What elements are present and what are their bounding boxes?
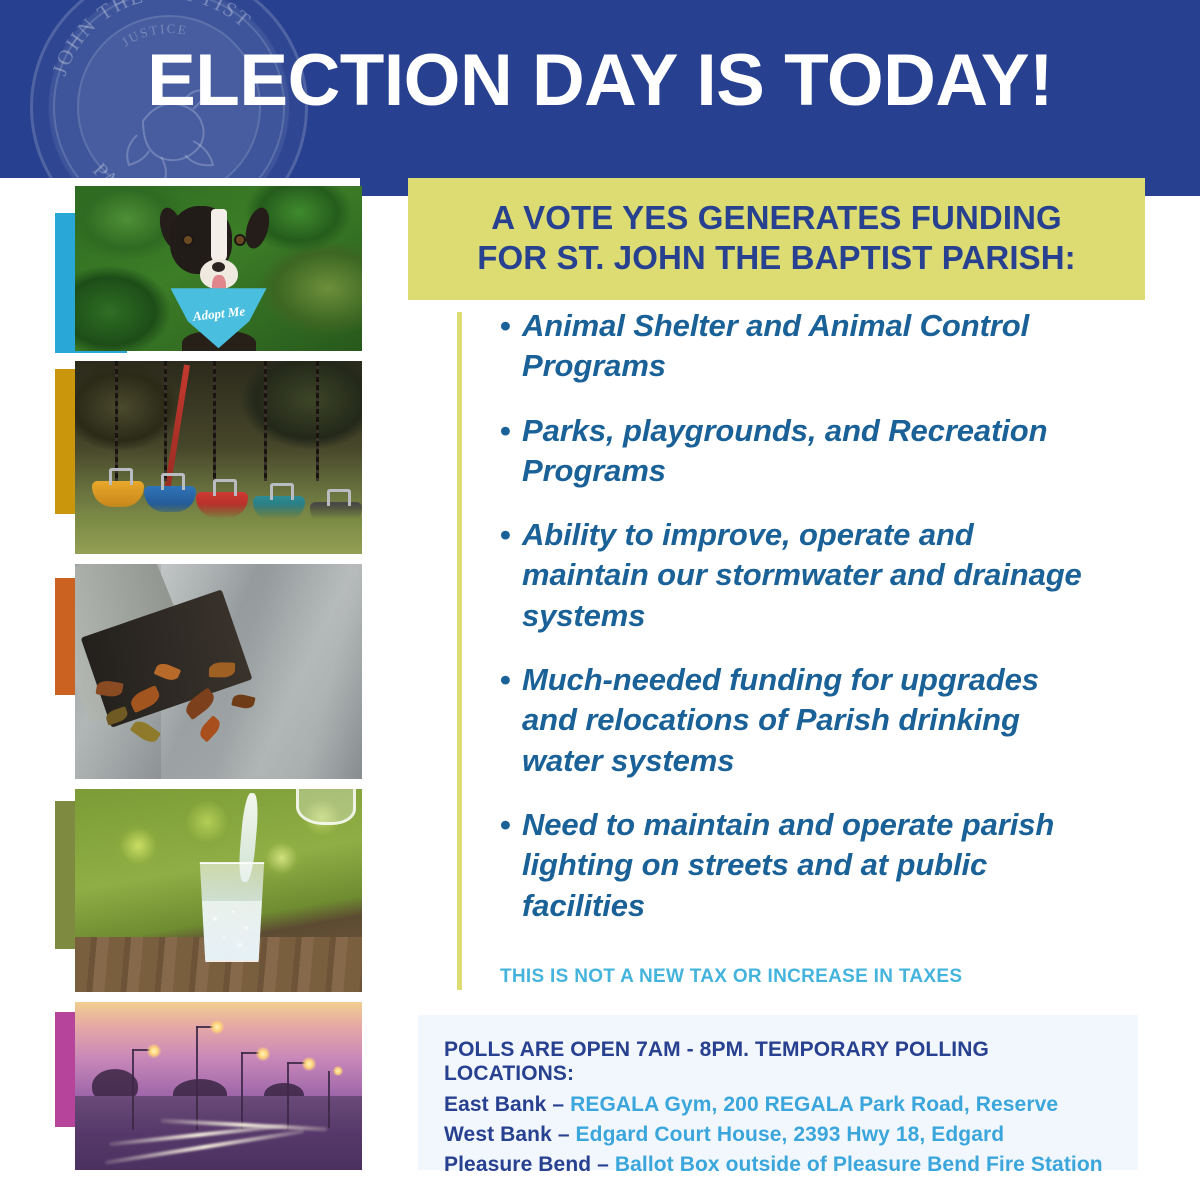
leaf [130, 717, 162, 745]
headline-line1-post: GENERATES FUNDING [688, 199, 1061, 236]
street-lamp-pole [241, 1052, 243, 1129]
dog-eye-right [236, 236, 244, 244]
leaf [232, 692, 256, 710]
swing-chain [164, 361, 167, 481]
swing-hook [270, 483, 294, 500]
glass-of-water-photo [75, 789, 362, 992]
election-day-poster: JOHN THE BAPTIST PARISH JUSTICE ELECTION… [0, 0, 1200, 1200]
dog-face-blaze [211, 209, 227, 263]
polling-location-value: Edgard Court House, 2393 Hwy 18, Edgard [576, 1123, 1005, 1146]
list-item: Animal Shelter and Animal Control Progra… [500, 306, 1100, 387]
street-lamp-pole [287, 1062, 289, 1129]
polling-hours-heading: POLLS ARE OPEN 7AM - 8PM. TEMPORARY POLL… [444, 1038, 1124, 1086]
polling-location-row: West Bank – Edgard Court House, 2393 Hwy… [444, 1123, 1124, 1147]
water-pitcher [296, 789, 356, 825]
tax-disclaimer: THIS IS NOT A NEW TAX OR INCREASE IN TAX… [500, 966, 962, 988]
swing-hook [109, 468, 133, 485]
benefits-list: Animal Shelter and Animal Control Progra… [500, 306, 1100, 950]
polling-location-row: Pleasure Bend – Ballot Box outside of Pl… [444, 1153, 1124, 1177]
polling-location-label: East Bank – [444, 1093, 564, 1116]
polling-info-box: POLLS ARE OPEN 7AM - 8PM. TEMPORARY POLL… [418, 1015, 1138, 1170]
street-lamp-pole [328, 1071, 330, 1128]
list-item: Ability to improve, operate and maintain… [500, 515, 1100, 636]
street-lamp-pole [132, 1049, 134, 1130]
swings-grass [75, 504, 362, 554]
street-lamp-glow [147, 1044, 161, 1058]
glass-water-fizz [199, 901, 265, 961]
polling-location-value: Ballot Box outside of Pleasure Bend Fire… [615, 1153, 1103, 1176]
dog-adopt-me-photo: Adopt Me [75, 186, 362, 351]
headline-box: A VOTE YES GENERATES FUNDING FOR ST. JOH… [408, 178, 1145, 300]
swing-chain [264, 361, 267, 481]
leaf [197, 715, 224, 742]
drinking-glass [197, 862, 267, 962]
headline-line2: FOR ST. JOHN THE BAPTIST PARISH: [477, 239, 1075, 276]
leaf [105, 705, 130, 724]
swing-chain [115, 361, 118, 481]
street-lamp-pole [196, 1026, 198, 1130]
polling-info-content: POLLS ARE OPEN 7AM - 8PM. TEMPORARY POLL… [444, 1038, 1124, 1183]
headline-text: A VOTE YES GENERATES FUNDING FOR ST. JOH… [408, 198, 1145, 279]
playground-swings-photo [75, 361, 362, 554]
leaf [209, 661, 235, 676]
storm-drain-leaves-photo [75, 564, 362, 779]
headline-line1-pre: A VOTE [491, 199, 622, 236]
photo-column: Adopt Me [0, 0, 400, 1200]
leaf [128, 684, 162, 712]
dog-eye-left [184, 236, 192, 244]
swing-chain [316, 361, 319, 481]
dog-nose [212, 262, 225, 272]
polling-location-label: Pleasure Bend – [444, 1153, 609, 1176]
list-item: Parks, playgrounds, and Recreation Progr… [500, 411, 1100, 492]
list-item: Much-needed funding for upgrades and rel… [500, 660, 1100, 781]
swing-chain [213, 361, 216, 481]
headline-yes-emphasis: YES [622, 199, 688, 236]
polling-location-label: West Bank – [444, 1123, 570, 1146]
leaf [96, 679, 124, 698]
list-item: Need to maintain and operate parish ligh… [500, 805, 1100, 926]
street-lights-dusk-photo [75, 1002, 362, 1170]
leaf [154, 660, 182, 682]
swing-hook [161, 473, 185, 490]
swing-hook [213, 479, 237, 496]
polling-location-row: East Bank – REGALA Gym, 200 REGALA Park … [444, 1093, 1124, 1117]
polling-location-value: REGALA Gym, 200 REGALA Park Road, Reserv… [570, 1093, 1058, 1116]
bullet-list-rule [457, 312, 462, 990]
